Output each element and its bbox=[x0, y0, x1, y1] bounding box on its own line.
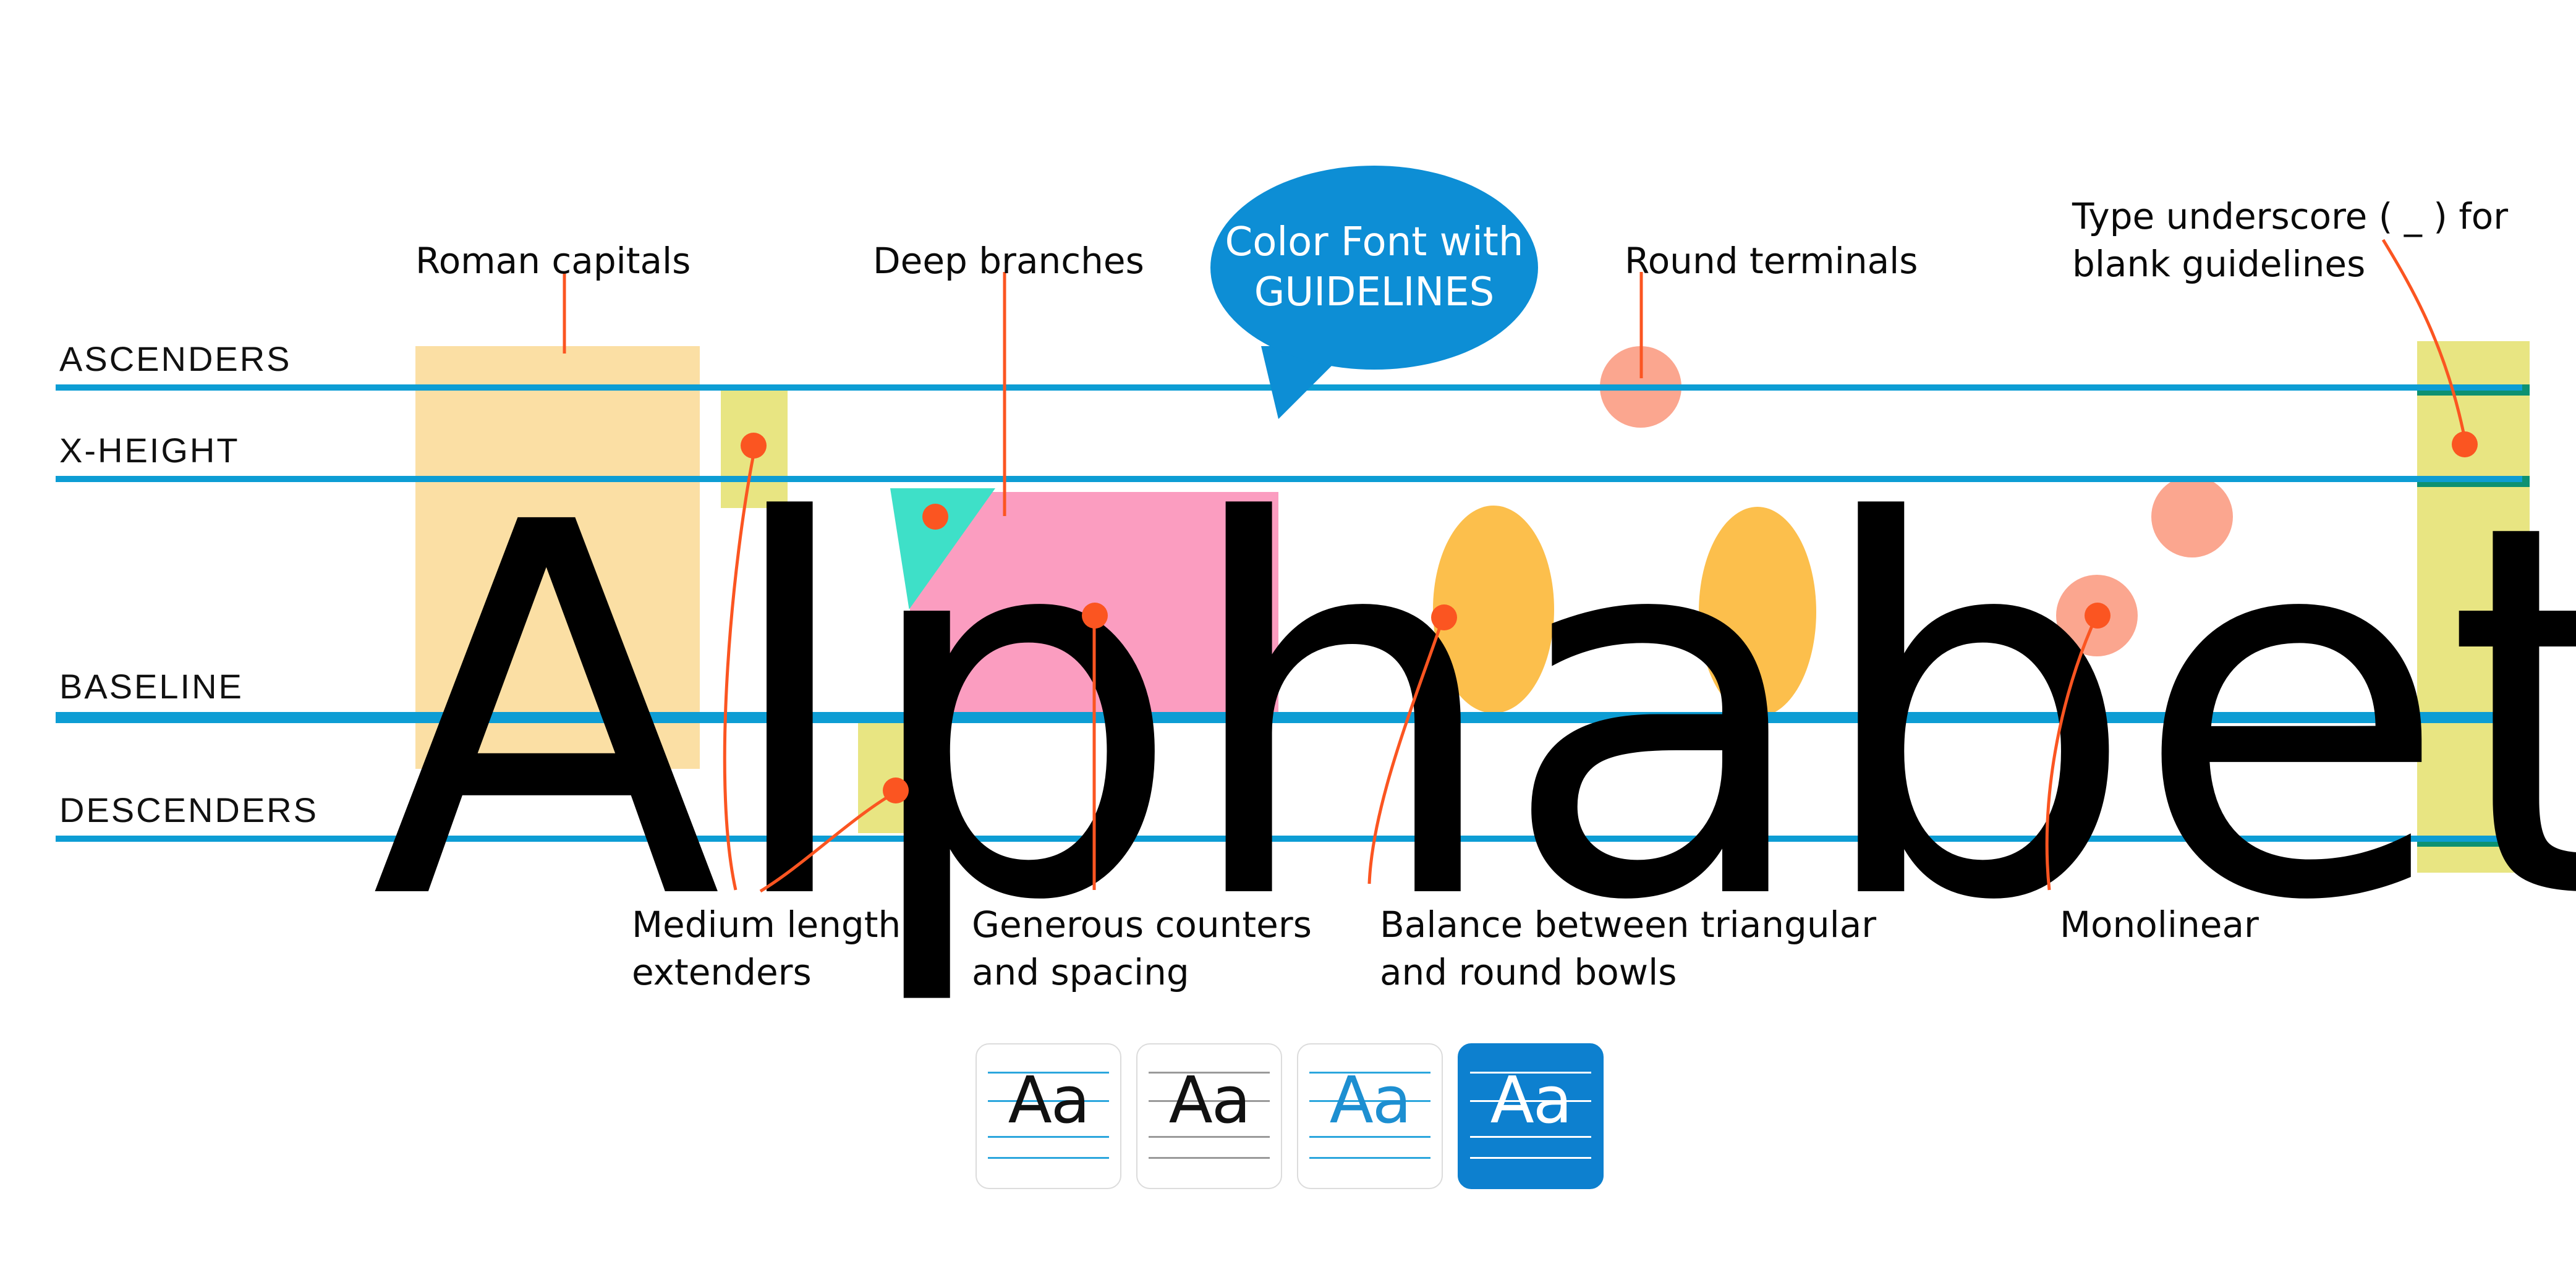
annotation-monolinear: Monolinear bbox=[2060, 901, 2259, 949]
style-swatch-row: Aa Aa Aa Aa bbox=[976, 1043, 1604, 1189]
leader-dot-extenders-top bbox=[741, 433, 767, 459]
annotation-balance-bowls: Balance between triangular and round bow… bbox=[1380, 901, 1876, 996]
swatch-blue-on-blue-rules[interactable]: Aa bbox=[1297, 1043, 1443, 1189]
swatch-rule bbox=[1470, 1157, 1591, 1159]
swatch-sample-text: Aa bbox=[977, 1068, 1120, 1132]
swatch-white-on-blue-filled[interactable]: Aa bbox=[1458, 1043, 1604, 1189]
swatch-black-on-blue-rules[interactable]: Aa bbox=[976, 1043, 1121, 1189]
leader-dot-extenders-bottom bbox=[883, 777, 909, 803]
leader-dot-counters bbox=[1082, 603, 1108, 629]
swatch-sample-text: Aa bbox=[1459, 1068, 1602, 1132]
guideline-label-ascenders: ASCENDERS bbox=[59, 339, 292, 379]
guideline-label-x-height: X-HEIGHT bbox=[59, 430, 240, 470]
guideline-label-baseline: BASELINE bbox=[59, 666, 244, 706]
swatch-black-on-gray-rules[interactable]: Aa bbox=[1136, 1043, 1282, 1189]
bubble-line-1: Color Font with bbox=[1225, 218, 1524, 268]
swatch-sample-text: Aa bbox=[1298, 1068, 1442, 1132]
annotation-generous-counters: Generous counters and spacing bbox=[972, 901, 1312, 996]
color-font-bubble: Color Font with GUIDELINES bbox=[1210, 166, 1538, 370]
specimen-canvas: ASCENDERS X-HEIGHT BASELINE DESCENDERS A… bbox=[0, 0, 2576, 1288]
leader-dot-bowls bbox=[1431, 604, 1457, 630]
leader-dot-branches bbox=[922, 504, 948, 530]
swatch-rule bbox=[988, 1157, 1109, 1159]
swatch-rule bbox=[1149, 1157, 1270, 1159]
leader-dot-monolinear bbox=[2085, 603, 2111, 629]
swatch-rule bbox=[1309, 1157, 1430, 1159]
annotation-roman-capitals: Roman capitals bbox=[415, 237, 691, 285]
annotation-medium-extenders: Medium length extenders bbox=[632, 901, 901, 996]
bubble-line-2: GUIDELINES bbox=[1254, 268, 1495, 318]
guideline-label-descenders: DESCENDERS bbox=[59, 790, 318, 830]
leader-dot-underscore bbox=[2452, 431, 2478, 457]
annotation-deep-branches: Deep branches bbox=[873, 237, 1144, 285]
annotation-type-underscore: Type underscore ( _ ) for blank guidelin… bbox=[2072, 193, 2508, 287]
swatch-sample-text: Aa bbox=[1137, 1068, 1281, 1132]
annotation-round-terminals: Round terminals bbox=[1625, 237, 1918, 285]
